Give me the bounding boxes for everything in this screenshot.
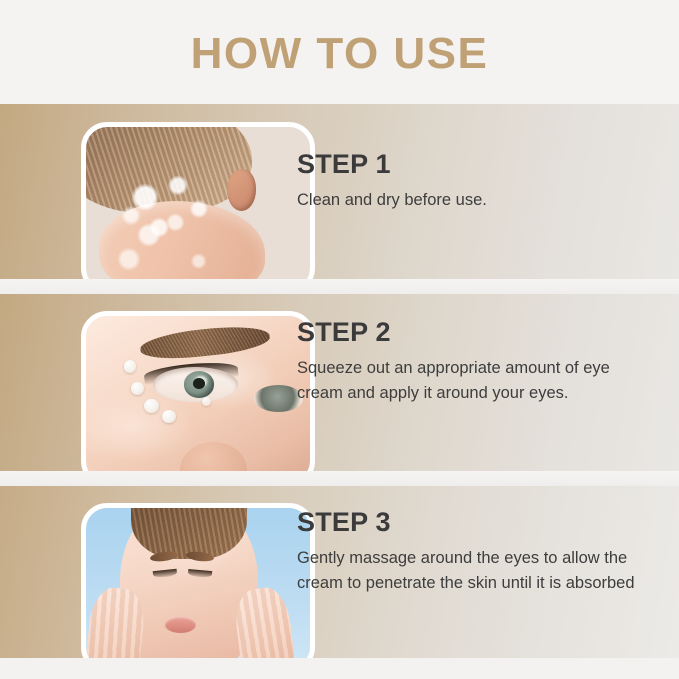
step-row-2: STEP 2 Squeeze out an appropriate amount…: [0, 294, 679, 471]
step-1-body: Clean and dry before use.: [297, 188, 637, 212]
step-1-heading: STEP 1: [297, 150, 653, 178]
water-splash-shape: [117, 172, 233, 256]
step-row-3: STEP 3 Gently massage around the eyes to…: [0, 486, 679, 658]
cream-dot: [202, 397, 211, 406]
step-3-photo: [81, 503, 315, 673]
right-closed-eye-shape: [187, 569, 211, 578]
washing-face-image: [86, 127, 310, 289]
eye-cream-dots-image: [86, 316, 310, 482]
step-1-photo: [81, 122, 315, 294]
step-2-photo: [81, 311, 315, 487]
eyebrow-shape: [139, 322, 271, 362]
step-1-text: STEP 1 Clean and dry before use.: [297, 150, 653, 213]
title-section: HOW TO USE: [0, 0, 679, 104]
how-to-use-infographic: HOW TO USE STEP 1 Clean and dry before u…: [0, 0, 679, 679]
step-3-heading: STEP 3: [297, 508, 653, 536]
cream-dot: [131, 382, 144, 395]
step-3-body: Gently massage around the eyes to allow …: [297, 546, 637, 595]
eye-shape: [153, 367, 238, 402]
cream-dot: [162, 410, 175, 423]
massage-face-image: [86, 508, 310, 668]
cream-dot: [124, 360, 136, 372]
lips-shape: [165, 617, 196, 633]
footer-strip: [0, 658, 679, 679]
step-2-text: STEP 2 Squeeze out an appropriate amount…: [297, 318, 653, 405]
cream-dot: [144, 399, 159, 413]
band-divider-1: [0, 279, 679, 294]
step-row-1: STEP 1 Clean and dry before use.: [0, 104, 679, 279]
left-hand-shape: [86, 585, 147, 668]
band-divider-2: [0, 471, 679, 486]
step-3-text: STEP 3 Gently massage around the eyes to…: [297, 508, 653, 595]
second-eye-shape: [254, 385, 303, 412]
right-hand-shape: [233, 585, 298, 668]
left-closed-eye-shape: [153, 569, 177, 579]
page-title: HOW TO USE: [191, 28, 489, 76]
step-2-body: Squeeze out an appropriate amount of eye…: [297, 356, 637, 405]
step-2-heading: STEP 2: [297, 318, 653, 346]
iris-shape: [184, 371, 215, 397]
